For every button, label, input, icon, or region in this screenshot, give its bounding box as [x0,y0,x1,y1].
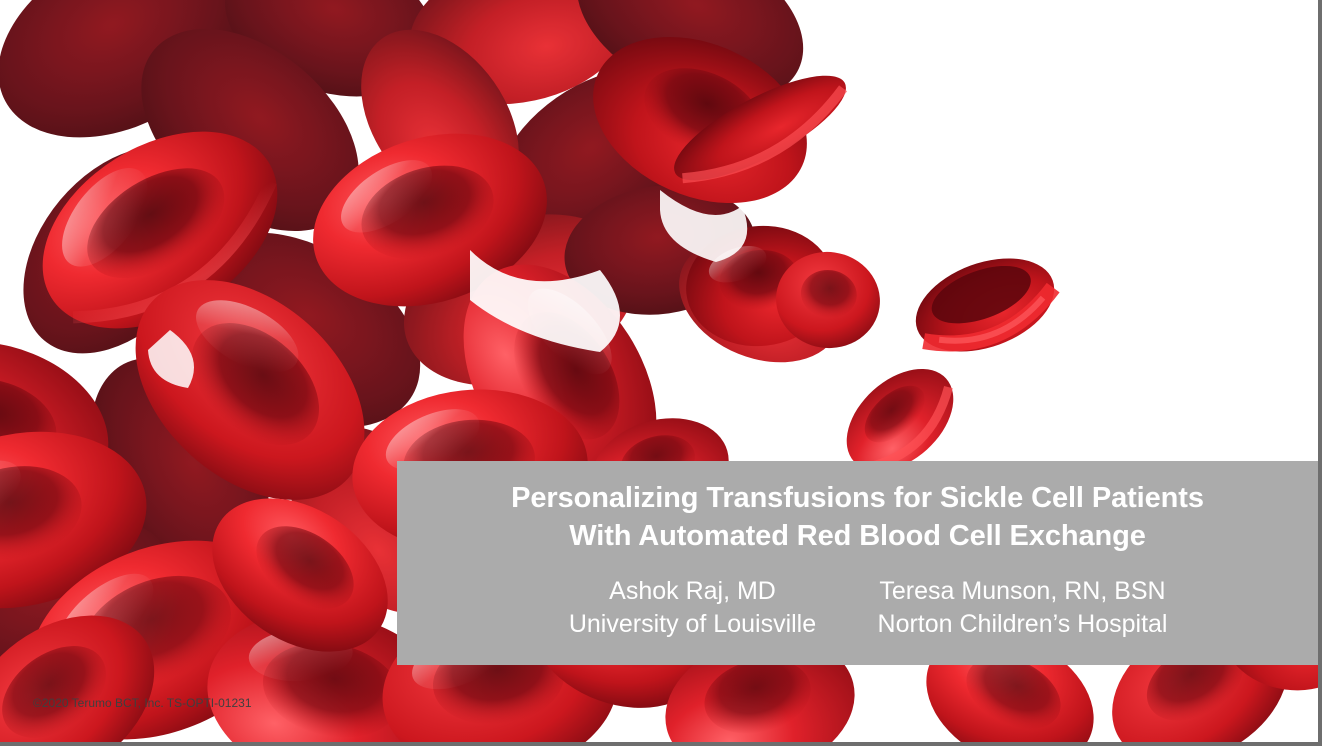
author-block-2: Teresa Munson, RN, BSN Norton Children’s… [858,575,1188,641]
author-name-2: Teresa Munson, RN, BSN [858,575,1188,608]
author-affiliation-1: University of Louisville [528,608,858,641]
author-block-1: Ashok Raj, MD University of Louisville [528,575,858,641]
author-affiliation-2: Norton Children’s Hospital [858,608,1188,641]
authors-row: Ashok Raj, MD University of Louisville T… [397,575,1318,641]
title-block: Personalizing Transfusions for Sickle Ce… [397,461,1318,555]
copyright-notice: ©2020 Terumo BCT, Inc. TS-OPTI-01231 [33,696,252,710]
title-slide: Personalizing Transfusions for Sickle Ce… [0,0,1322,746]
slide-title-line-2: With Automated Red Blood Cell Exchange [397,517,1318,555]
title-panel: Personalizing Transfusions for Sickle Ce… [397,461,1318,665]
slide-title-line-1: Personalizing Transfusions for Sickle Ce… [397,479,1318,517]
author-name-1: Ashok Raj, MD [528,575,858,608]
